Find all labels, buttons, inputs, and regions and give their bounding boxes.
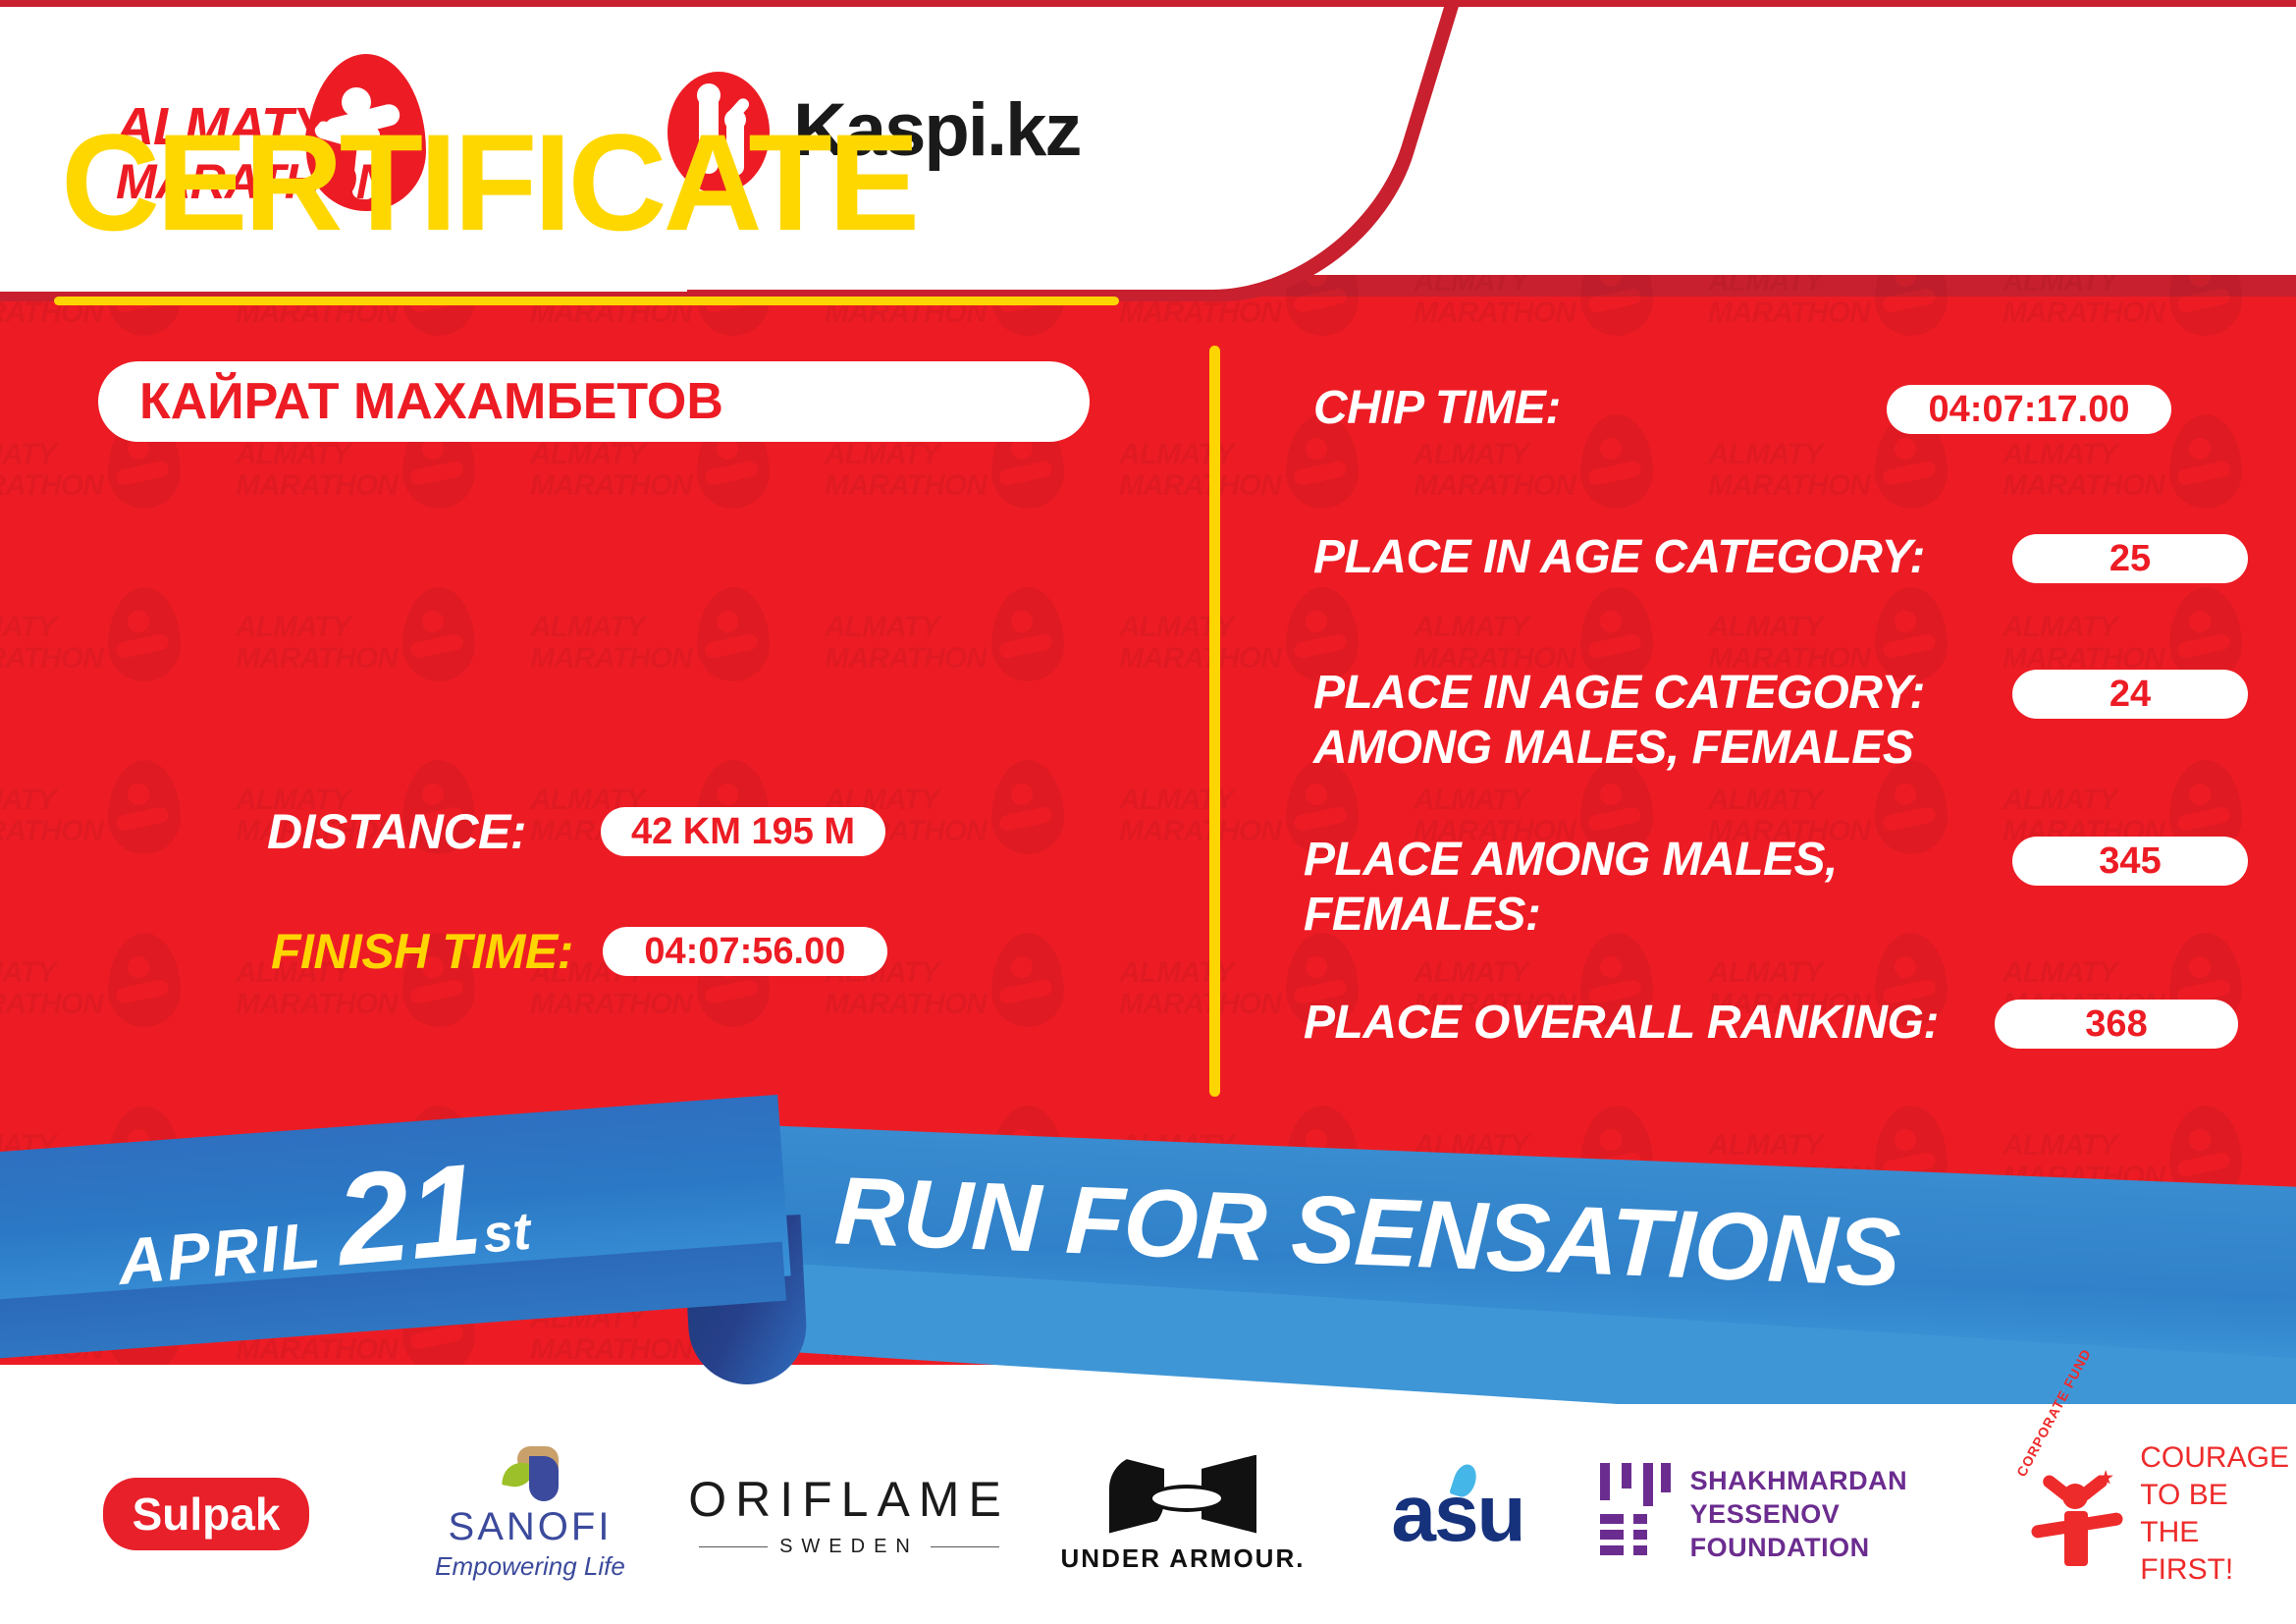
watermark-line1: ALMATY (530, 611, 645, 644)
watermark-line2: MARATHON (530, 988, 692, 1021)
watermark-line2: MARATHON (236, 642, 398, 676)
event-day: 21 (333, 1155, 486, 1274)
watermark-line1: ALMATY (2002, 956, 2117, 990)
watermark-line1: ALMATY (1414, 956, 1528, 990)
distance-row: DISTANCE: 42 KM 195 M (267, 803, 885, 860)
stat-label: PLACE IN AGE CATEGORY: (1313, 530, 1925, 585)
sanofi-name: SANOFI (435, 1505, 625, 1549)
courage-line1: COURAGE (2140, 1439, 2294, 1477)
courage-head-icon (2062, 1484, 2088, 1509)
sponsor-under-armour: UNDER ARMOUR. (1041, 1404, 1325, 1624)
watermark-runner-icon (697, 587, 770, 681)
title-underline (54, 297, 1119, 305)
watermark-line1: ALMATY (1708, 784, 1823, 817)
watermark-line1: ALMATY (2002, 784, 2117, 817)
watermark-line2: MARATHON (0, 642, 103, 676)
watermark-line1: ALMATY (0, 438, 56, 471)
sanofi-tagline: Empowering Life (435, 1551, 625, 1582)
stat-label: PLACE IN AGE CATEGORY: AMONG MALES, FEMA… (1313, 666, 1925, 776)
stat-label-line1: PLACE IN AGE CATEGORY: (1313, 666, 1925, 721)
sanofi-logo: SANOFI Empowering Life (435, 1446, 625, 1582)
stat-value: 25 (2012, 534, 2248, 583)
sponsor-courage-fund: CORPORATE FUND COURAGE TO BE THE FIRST! (2022, 1404, 2287, 1624)
watermark-line2: MARATHON (0, 469, 103, 503)
watermark-line1: ALMATY (825, 611, 939, 644)
column-divider (1209, 346, 1220, 1097)
watermark-runner-icon (991, 760, 1064, 854)
stat-value: 04:07:17.00 (1887, 385, 2171, 434)
watermark-runner-icon (991, 933, 1064, 1027)
courage-line3: THE FIRST! (2140, 1514, 2294, 1589)
oriflame-logo: ORIFLAME SWEDEN (688, 1471, 1010, 1558)
sponsor-oriflame: ORIFLAME SWEDEN (687, 1404, 1011, 1624)
watermark-line2: MARATHON (0, 815, 103, 848)
courage-figure-icon: CORPORATE FUND (2015, 1460, 2126, 1568)
watermark-line2: MARATHON (1708, 297, 1870, 330)
stat-value: 368 (1995, 1000, 2238, 1049)
watermark-line1: ALMATY (1414, 611, 1528, 644)
under-armour-mark-icon (1109, 1455, 1256, 1534)
watermark-line2: MARATHON (530, 642, 692, 676)
yessenov-name-line1: SHAKHMARDAN YESSENOV (1690, 1464, 2012, 1531)
stat-label-line2: AMONG MALES, FEMALES (1313, 721, 1925, 776)
stat-label: CHIP TIME: (1313, 381, 1561, 436)
sulpak-logo: Sulpak (103, 1478, 310, 1550)
distance-value: 42 KM 195 M (601, 807, 885, 856)
stat-label-line2: FEMALES: (1304, 888, 1838, 943)
watermark-line1: ALMATY (236, 611, 350, 644)
oriflame-name: ORIFLAME (688, 1471, 1010, 1528)
oriflame-tagline: SWEDEN (779, 1536, 919, 1558)
courage-logo: CORPORATE FUND COURAGE TO BE THE FIRST! (2015, 1439, 2294, 1589)
watermark-line2: MARATHON (236, 469, 398, 503)
page-title: CERTIFICATE (61, 114, 916, 251)
top-red-rule (0, 0, 2296, 7)
stat-value: 24 (2012, 670, 2248, 719)
watermark-tile: ALMATYMARATHON (0, 581, 196, 738)
stat-place-overall-ranking: PLACE OVERALL RANKING: 368 (1304, 996, 1939, 1051)
sponsor-asu: asu (1335, 1404, 1580, 1624)
stat-place-age-category-among: PLACE IN AGE CATEGORY: AMONG MALES, FEMA… (1313, 666, 1925, 776)
finish-time-value: 04:07:56.00 (603, 927, 887, 976)
watermark-line1: ALMATY (1708, 956, 1823, 990)
watermark-tile: ALMATYMARATHON (2002, 754, 2258, 911)
event-ribbon: APRIL 21 st RUN FOR SENSATIONS (0, 1100, 2296, 1424)
watermark-line2: MARATHON (1414, 469, 1575, 503)
watermark-tile: ALMATYMARATHON (530, 581, 785, 738)
stat-label-line1: PLACE AMONG MALES, (1304, 833, 1838, 888)
stat-label: PLACE AMONG MALES, FEMALES: (1304, 833, 1838, 943)
watermark-line1: ALMATY (1708, 438, 1823, 471)
watermark-runner-icon (2169, 414, 2242, 509)
event-day-ordinal: st (481, 1201, 533, 1266)
watermark-line2: MARATHON (825, 988, 987, 1021)
yessenov-name-line2: FOUNDATION (1690, 1531, 2012, 1564)
watermark-line2: MARATHON (825, 469, 987, 503)
watermark-runner-icon (108, 587, 181, 681)
watermark-line2: MARATHON (1119, 815, 1281, 848)
yessenov-mark-icon (1600, 1463, 1663, 1565)
watermark-line1: ALMATY (2002, 611, 2117, 644)
participant-name: КАЙРАТ МАХАМБЕТОВ (139, 372, 723, 431)
watermark-line1: ALMATY (1708, 611, 1823, 644)
watermark-line1: ALMATY (1414, 784, 1528, 817)
watermark-line2: MARATHON (825, 642, 987, 676)
certificate-root: ALMATYMARATHONALMATYMARATHONALMATYMARATH… (0, 0, 2296, 1624)
watermark-line2: MARATHON (1119, 469, 1281, 503)
sponsor-sanofi: SANOFI Empowering Life (383, 1404, 677, 1624)
watermark-runner-icon (108, 933, 181, 1027)
under-armour-logo: UNDER ARMOUR. (1061, 1455, 1306, 1574)
stat-value: 345 (2012, 837, 2248, 886)
watermark-line2: MARATHON (0, 988, 103, 1021)
finish-time-row: FINISH TIME: 04:07:56.00 (271, 923, 887, 980)
watermark-tile: ALMATYMARATHON (0, 754, 196, 911)
sponsor-bar: Sulpak SANOFI Empowering Life ORIFLAME S… (0, 1404, 2296, 1624)
watermark-line2: MARATHON (530, 469, 692, 503)
stat-label: PLACE OVERALL RANKING: (1304, 996, 1939, 1051)
asu-logo: asu (1391, 1468, 1523, 1560)
sanofi-mark-icon (496, 1446, 564, 1501)
watermark-line1: ALMATY (530, 438, 645, 471)
courage-line2: TO BE (2140, 1477, 2294, 1514)
watermark-runner-icon (108, 760, 181, 854)
watermark-line1: ALMATY (2002, 438, 2117, 471)
watermark-line1: ALMATY (1414, 438, 1528, 471)
watermark-runner-icon (1580, 414, 1653, 509)
sponsor-sulpak: Sulpak (59, 1404, 353, 1624)
watermark-line2: MARATHON (2002, 469, 2164, 503)
watermark-line1: ALMATY (825, 438, 939, 471)
watermark-tile: ALMATYMARATHON (825, 581, 1080, 738)
watermark-line2: MARATHON (236, 988, 398, 1021)
watermark-tile: ALMATYMARATHON (0, 927, 196, 1084)
watermark-runner-icon (991, 587, 1064, 681)
watermark-line2: MARATHON (1119, 988, 1281, 1021)
watermark-tile: ALMATYMARATHON (236, 581, 491, 738)
watermark-line1: ALMATY (0, 956, 56, 990)
stat-chip-time: CHIP TIME: 04:07:17.00 (1313, 381, 1561, 436)
watermark-line2: MARATHON (1708, 469, 1870, 503)
finish-time-label: FINISH TIME: (271, 923, 573, 980)
stat-place-age-category: PLACE IN AGE CATEGORY: 25 (1313, 530, 1925, 585)
watermark-line1: ALMATY (236, 438, 350, 471)
distance-label: DISTANCE: (267, 803, 526, 860)
watermark-line2: MARATHON (1119, 642, 1281, 676)
watermark-line1: ALMATY (0, 611, 56, 644)
watermark-line1: ALMATY (0, 784, 56, 817)
participant-name-field: КАЙРАТ МАХАМБЕТОВ (98, 361, 1090, 442)
watermark-runner-icon (402, 587, 475, 681)
watermark-line2: MARATHON (2002, 297, 2164, 330)
sponsor-yessenov-foundation: SHAKHMARDAN YESSENOV FOUNDATION (1600, 1404, 2012, 1624)
yessenov-logo: SHAKHMARDAN YESSENOV FOUNDATION (1600, 1463, 2012, 1565)
watermark-runner-icon (2169, 587, 2242, 681)
stat-place-among-males-females: PLACE AMONG MALES, FEMALES: 345 (1304, 833, 1838, 943)
under-armour-name: UNDER ARMOUR. (1061, 1543, 1306, 1574)
